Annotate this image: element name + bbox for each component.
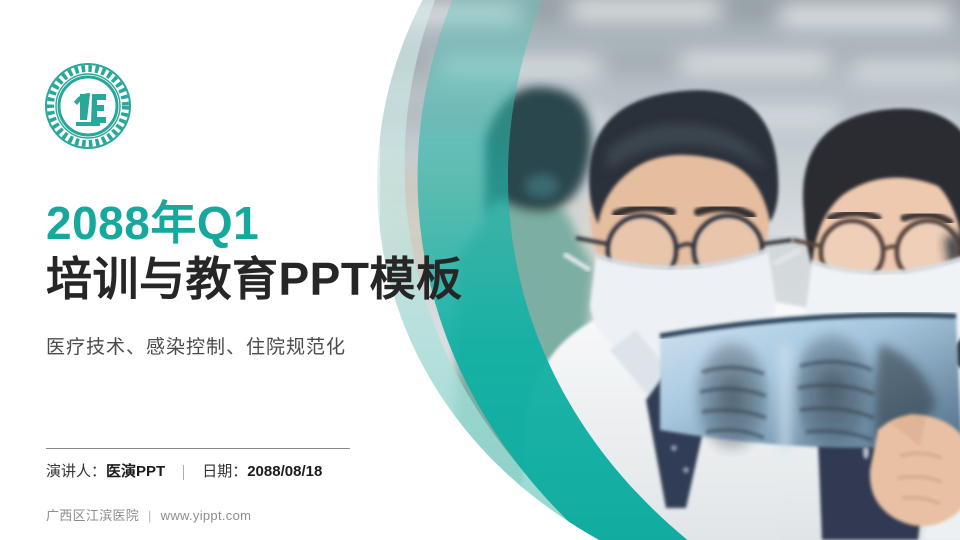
divider-rule xyxy=(46,448,350,449)
date-value: 2088/08/18 xyxy=(247,461,322,483)
credit-separator: | xyxy=(148,508,152,523)
page-title: 2088年Q1 培训与教育PPT模板 xyxy=(46,196,506,308)
credit-organization: 广西区江滨医院 xyxy=(46,508,139,523)
presenter-date-row: 演讲人： 医演PPT 日期： 2088/08/18 xyxy=(46,461,322,483)
title-year-quarter: 2088年Q1 xyxy=(46,196,506,250)
date-label: 日期： xyxy=(202,461,247,483)
meta-separator xyxy=(183,465,184,480)
presenter-value: 医演PPT xyxy=(106,461,165,483)
presenter-label: 演讲人： xyxy=(46,461,106,483)
hospital-logo xyxy=(44,62,132,150)
subtitle: 医疗技术、感染控制、住院规范化 xyxy=(46,334,346,362)
credit-website[interactable]: www.yippt.com xyxy=(161,508,252,523)
title-main: 培训与教育PPT模板 xyxy=(46,250,506,308)
slide-content: 2088年Q1 培训与教育PPT模板 医疗技术、感染控制、住院规范化 演讲人： … xyxy=(0,0,420,540)
credit-line: 广西区江滨医院 | www.yippt.com xyxy=(46,507,251,525)
cover-slide: 2088年Q1 培训与教育PPT模板 医疗技术、感染控制、住院规范化 演讲人： … xyxy=(0,0,960,540)
